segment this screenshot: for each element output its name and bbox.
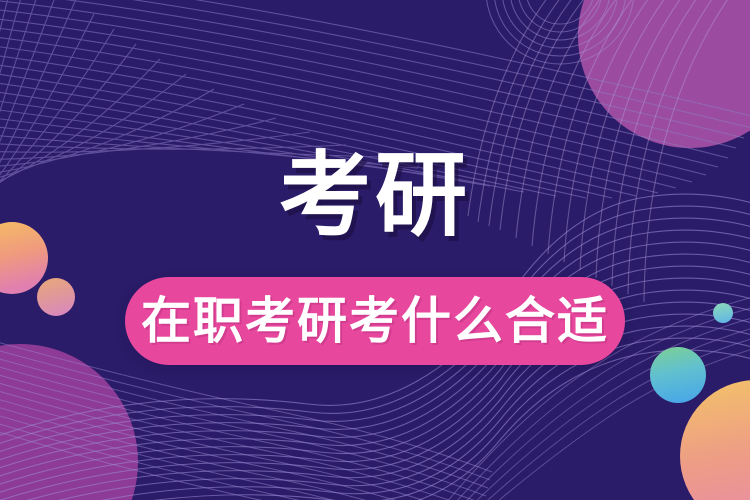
content-layer: 考研 在职考研考什么合适 [0, 0, 750, 500]
subtitle-text: 在职考研考什么合适 [141, 294, 609, 348]
promo-banner: 考研 在职考研考什么合适 [0, 0, 750, 500]
subtitle-pill: 在职考研考什么合适 [125, 277, 625, 365]
page-title: 考研 [0, 148, 750, 244]
